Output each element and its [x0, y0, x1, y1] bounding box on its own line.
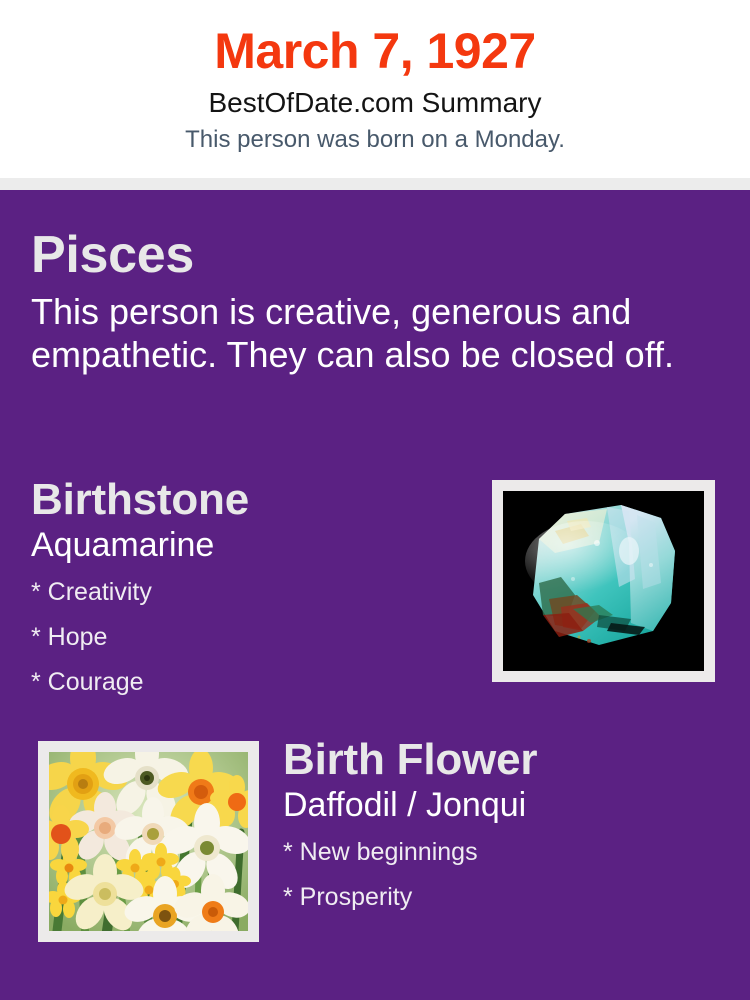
list-item: * Creativity	[31, 570, 471, 615]
list-item: * Prosperity	[283, 875, 743, 920]
zodiac-section: Pisces This person is creative, generous…	[31, 226, 721, 376]
page-title: March 7, 1927	[0, 22, 750, 80]
list-item: * Hope	[31, 615, 471, 660]
zodiac-sign-name: Pisces	[31, 226, 721, 284]
page-header: March 7, 1927 BestOfDate.com Summary Thi…	[0, 0, 750, 178]
list-item: * New beginnings	[283, 830, 743, 875]
birthstone-section: Birthstone Aquamarine * Creativity * Hop…	[31, 475, 471, 705]
list-item: * Courage	[31, 660, 471, 705]
site-summary-label: BestOfDate.com Summary	[0, 84, 750, 122]
birth-flower-section: Birth Flower Daffodil / Jonqui * New beg…	[283, 735, 743, 920]
summary-panel: Pisces This person is creative, generous…	[0, 190, 750, 1000]
birth-flower-image-frame	[38, 741, 259, 942]
birthstone-heading: Birthstone	[31, 475, 471, 525]
birthstone-image	[503, 491, 704, 671]
header-divider	[0, 178, 750, 190]
zodiac-description: This person is creative, generous and em…	[31, 290, 711, 376]
birth-flower-trait-list: * New beginnings * Prosperity	[283, 830, 743, 920]
birth-flower-name: Daffodil / Jonqui	[283, 785, 743, 825]
birthstone-name: Aquamarine	[31, 525, 471, 565]
birth-flower-image	[49, 752, 248, 931]
birth-flower-heading: Birth Flower	[283, 735, 743, 785]
weekday-statement: This person was born on a Monday.	[0, 123, 750, 157]
birthstone-trait-list: * Creativity * Hope * Courage	[31, 570, 471, 705]
birthstone-image-frame	[492, 480, 715, 682]
